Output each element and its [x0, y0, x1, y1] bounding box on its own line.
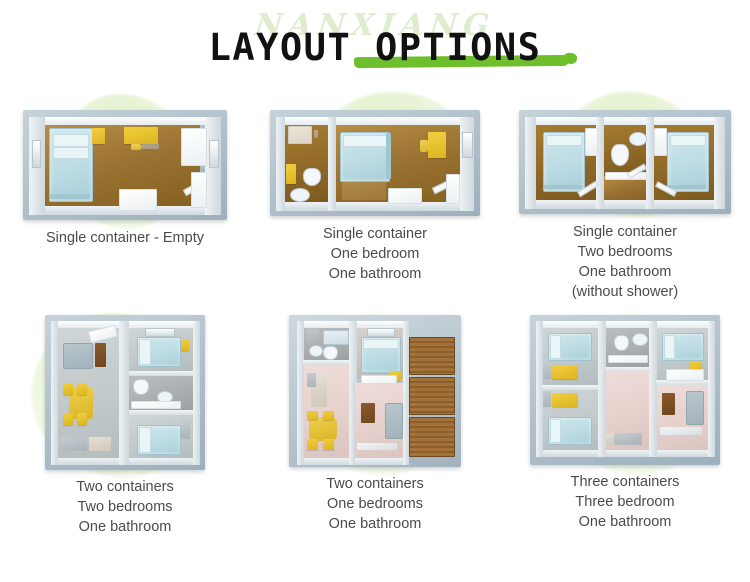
wall-partition-1	[349, 321, 357, 383]
layout-caption: Single container - Empty	[46, 228, 204, 248]
door-panel	[191, 172, 207, 208]
toilet-icon	[133, 379, 149, 395]
door-panel	[585, 128, 598, 156]
layout-card-single-1bed-1bath[interactable]: Single container One bedroom One bathroo…	[250, 92, 500, 307]
floorplan-two-1bed-1bath[interactable]	[289, 315, 461, 467]
bedroom-storage	[666, 369, 704, 381]
sink-icon	[629, 132, 647, 146]
layout-card-two-1bed-1bath[interactable]: Two containers One bedrooms One bathroom	[250, 307, 500, 552]
wall-left	[51, 321, 58, 465]
toilet-icon	[611, 144, 629, 166]
wall-top	[525, 117, 725, 125]
desk-icon	[552, 393, 578, 407]
wall-bottom	[276, 202, 474, 211]
bathtub-icon	[323, 330, 349, 345]
sink-icon	[290, 188, 310, 202]
toilet-icon	[614, 335, 629, 351]
pillow-icon	[139, 427, 151, 453]
desk-chair-icon	[131, 144, 141, 150]
wardrobe-icon	[543, 391, 551, 407]
chair-icon	[77, 383, 87, 395]
wall-left	[276, 117, 285, 211]
pillow-icon	[550, 335, 561, 359]
floorplan-single-empty[interactable]	[23, 110, 227, 220]
pillow-icon	[53, 147, 89, 159]
wall-top	[29, 117, 221, 125]
layout-card-single-2bed-1bath[interactable]: Single container Two bedrooms One bathro…	[500, 92, 750, 307]
pillow-icon	[550, 419, 561, 443]
door-panel	[446, 174, 460, 204]
fridge-icon	[307, 373, 316, 387]
kitchen-icon	[614, 433, 642, 445]
cabinet-icon	[95, 343, 106, 367]
layout-caption: Two containers One bedrooms One bathroom	[326, 474, 424, 534]
wall-h-bath	[606, 367, 650, 372]
layout-card-single-empty[interactable]: Single container - Empty	[0, 92, 250, 307]
kitchen-counter	[89, 437, 111, 451]
chair-icon	[323, 439, 334, 450]
chair-icon	[63, 383, 73, 395]
window-icon	[145, 328, 175, 337]
wall-right	[714, 117, 725, 209]
wall-h-1	[129, 371, 193, 376]
layout-caption: Single container Two bedrooms One bathro…	[572, 222, 678, 302]
toilet-icon	[303, 168, 321, 186]
deck-icon	[409, 337, 455, 375]
wall-h-2	[129, 410, 193, 415]
wall-left	[525, 117, 536, 209]
shower-head-icon	[314, 130, 318, 138]
floorplan-three-3bed-1bath[interactable]	[530, 315, 720, 465]
window-icon	[367, 328, 395, 337]
wall-top	[536, 321, 714, 328]
deck-icon	[409, 417, 455, 457]
wardrobe-icon	[181, 421, 190, 439]
shower-icon	[288, 126, 312, 144]
chair-icon	[323, 411, 334, 420]
bath-counter	[608, 355, 648, 363]
wall-bottom	[525, 200, 725, 209]
window-icon	[462, 132, 473, 158]
sink-icon	[632, 333, 648, 346]
pillow-icon	[664, 335, 675, 359]
wall-h-bath	[303, 360, 349, 365]
kitchen-icon	[61, 437, 87, 451]
pillow-icon	[53, 134, 89, 147]
rug-icon	[342, 182, 386, 200]
chair-icon	[77, 413, 87, 425]
wall-bottom	[536, 450, 714, 457]
bed-footboard	[50, 194, 90, 199]
desk-icon	[124, 127, 158, 144]
toilet-icon	[323, 346, 338, 360]
pillow-icon	[363, 339, 399, 349]
layout-caption: Single container One bedroom One bathroo…	[323, 224, 427, 284]
layout-card-two-2bed-1bath[interactable]: Two containers Two bedrooms One bathroom	[0, 307, 250, 552]
wall-center-partition	[119, 321, 129, 465]
wall-partition-2	[649, 321, 657, 457]
bath-cabinet-icon	[286, 164, 296, 184]
layout-options-grid: Single container - Empty	[0, 92, 750, 552]
layout-caption: Two containers Two bedrooms One bathroom	[76, 477, 174, 537]
wall-partition-1	[598, 321, 606, 457]
bed-footboard	[386, 133, 391, 179]
tv-cabinet-icon	[361, 403, 375, 423]
tv-cabinet-icon	[662, 393, 675, 415]
nightstand-icon	[92, 128, 105, 144]
wall-h-left	[542, 385, 598, 390]
layout-card-three-3bed-1bath[interactable]: Three containers Three bedroom One bathr…	[500, 307, 750, 552]
wardrobe-icon	[543, 363, 551, 379]
sofa-icon	[63, 343, 93, 369]
wall-left	[297, 321, 304, 465]
pillow-icon	[139, 339, 151, 365]
wardrobe-icon	[181, 128, 207, 166]
wall-right	[708, 321, 715, 457]
window-icon	[32, 140, 41, 168]
wall-partition-2	[349, 383, 355, 465]
pillow-icon	[546, 135, 582, 146]
wall-partition-right	[646, 117, 654, 209]
door-panel	[654, 128, 667, 156]
sink-icon	[309, 345, 323, 357]
bed-footboard	[544, 185, 582, 189]
wall-top	[276, 117, 474, 125]
page-title: LAYOUT OPTIONS	[209, 26, 542, 69]
wall-partition	[328, 117, 336, 211]
layout-caption: Three containers Three bedroom One bathr…	[571, 472, 680, 532]
bath-counter	[131, 401, 181, 409]
page-title-wrap: LAYOUT OPTIONS	[0, 26, 750, 69]
shelf-icon	[357, 443, 397, 450]
floorplan-single-2bed-1bath[interactable]	[519, 110, 731, 214]
wall-right	[193, 321, 200, 465]
window-icon	[209, 140, 219, 168]
table-icon	[119, 189, 157, 211]
bedroom-storage	[361, 375, 397, 384]
kitchen-counter	[606, 433, 614, 445]
chair-icon	[307, 439, 318, 450]
chair-icon	[307, 411, 318, 420]
floorplan-single-1bed-1bath[interactable]	[270, 110, 480, 216]
sofa-icon	[385, 403, 403, 439]
counter-shadow	[141, 144, 159, 149]
desk-chair-icon	[420, 140, 428, 152]
dining-table-icon	[309, 417, 337, 441]
shower-icon	[307, 329, 319, 343]
shelf-icon	[660, 427, 702, 435]
deck-icon	[409, 377, 455, 415]
nightstand-icon	[181, 339, 189, 351]
table-icon	[388, 188, 422, 204]
floorplan-two-2bed-1bath[interactable]	[45, 315, 205, 470]
pillow-icon	[343, 135, 387, 147]
pillow-icon	[670, 135, 706, 146]
chair-icon	[63, 413, 73, 425]
sofa-icon	[686, 391, 704, 425]
desk-icon	[428, 132, 446, 158]
wall-right	[403, 321, 409, 465]
desk-icon	[552, 365, 578, 379]
bed-footboard	[668, 185, 706, 189]
page-header: NANXIANG LAYOUT OPTIONS	[0, 0, 750, 92]
